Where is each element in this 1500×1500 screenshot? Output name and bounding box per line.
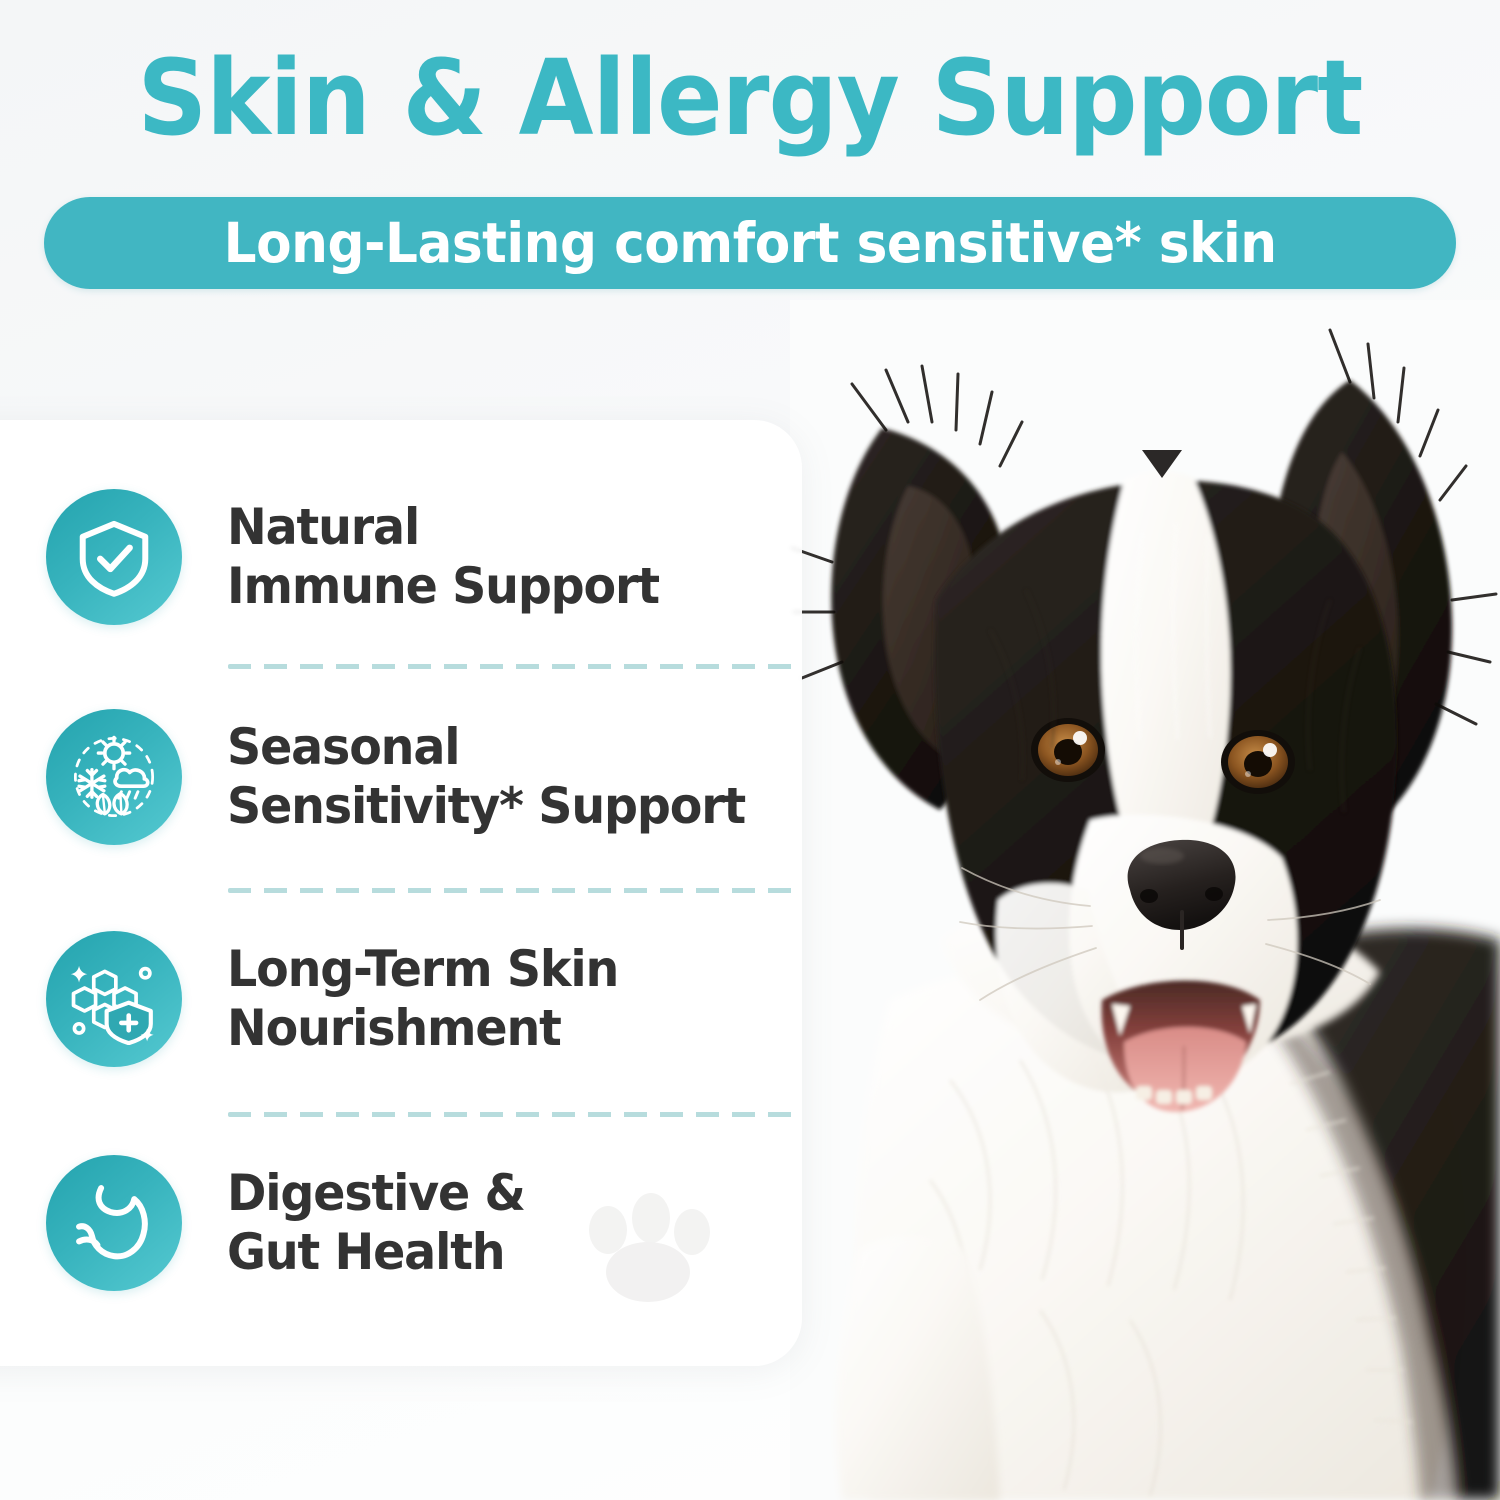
feature-divider — [228, 1112, 802, 1117]
feature-label: Long-Term Skin Nourishment — [227, 940, 618, 1058]
feature-item-long-term-skin-nourishment: Long-Term Skin Nourishment — [46, 924, 806, 1074]
feature-label: Natural Immune Support — [227, 498, 659, 616]
four-seasons-icon — [46, 709, 182, 845]
feature-divider — [228, 888, 802, 893]
shield-check-icon — [46, 489, 182, 625]
dog-photo — [790, 300, 1500, 1500]
feature-item-natural-immune-support: Natural Immune Support — [46, 482, 806, 632]
feature-divider — [228, 664, 802, 669]
product-infographic: Skin & Allergy Support Long-Lasting comf… — [0, 0, 1500, 1500]
subtitle-text: Long-Lasting comfort sensitive* skin — [223, 211, 1276, 275]
feature-label: Seasonal Sensitivity* Support — [227, 718, 745, 836]
feature-list: Natural Immune Support — [0, 420, 820, 1366]
subtitle-banner: Long-Lasting comfort sensitive* skin — [44, 197, 1456, 289]
stomach-icon — [46, 1155, 182, 1291]
feature-label: Digestive & Gut Health — [227, 1164, 525, 1282]
molecule-shield-plus-icon — [46, 931, 182, 1067]
page-title: Skin & Allergy Support — [53, 46, 1448, 150]
feature-item-digestive-gut-health: Digestive & Gut Health — [46, 1148, 806, 1298]
feature-item-seasonal-sensitivity-support: Seasonal Sensitivity* Support — [46, 702, 806, 852]
